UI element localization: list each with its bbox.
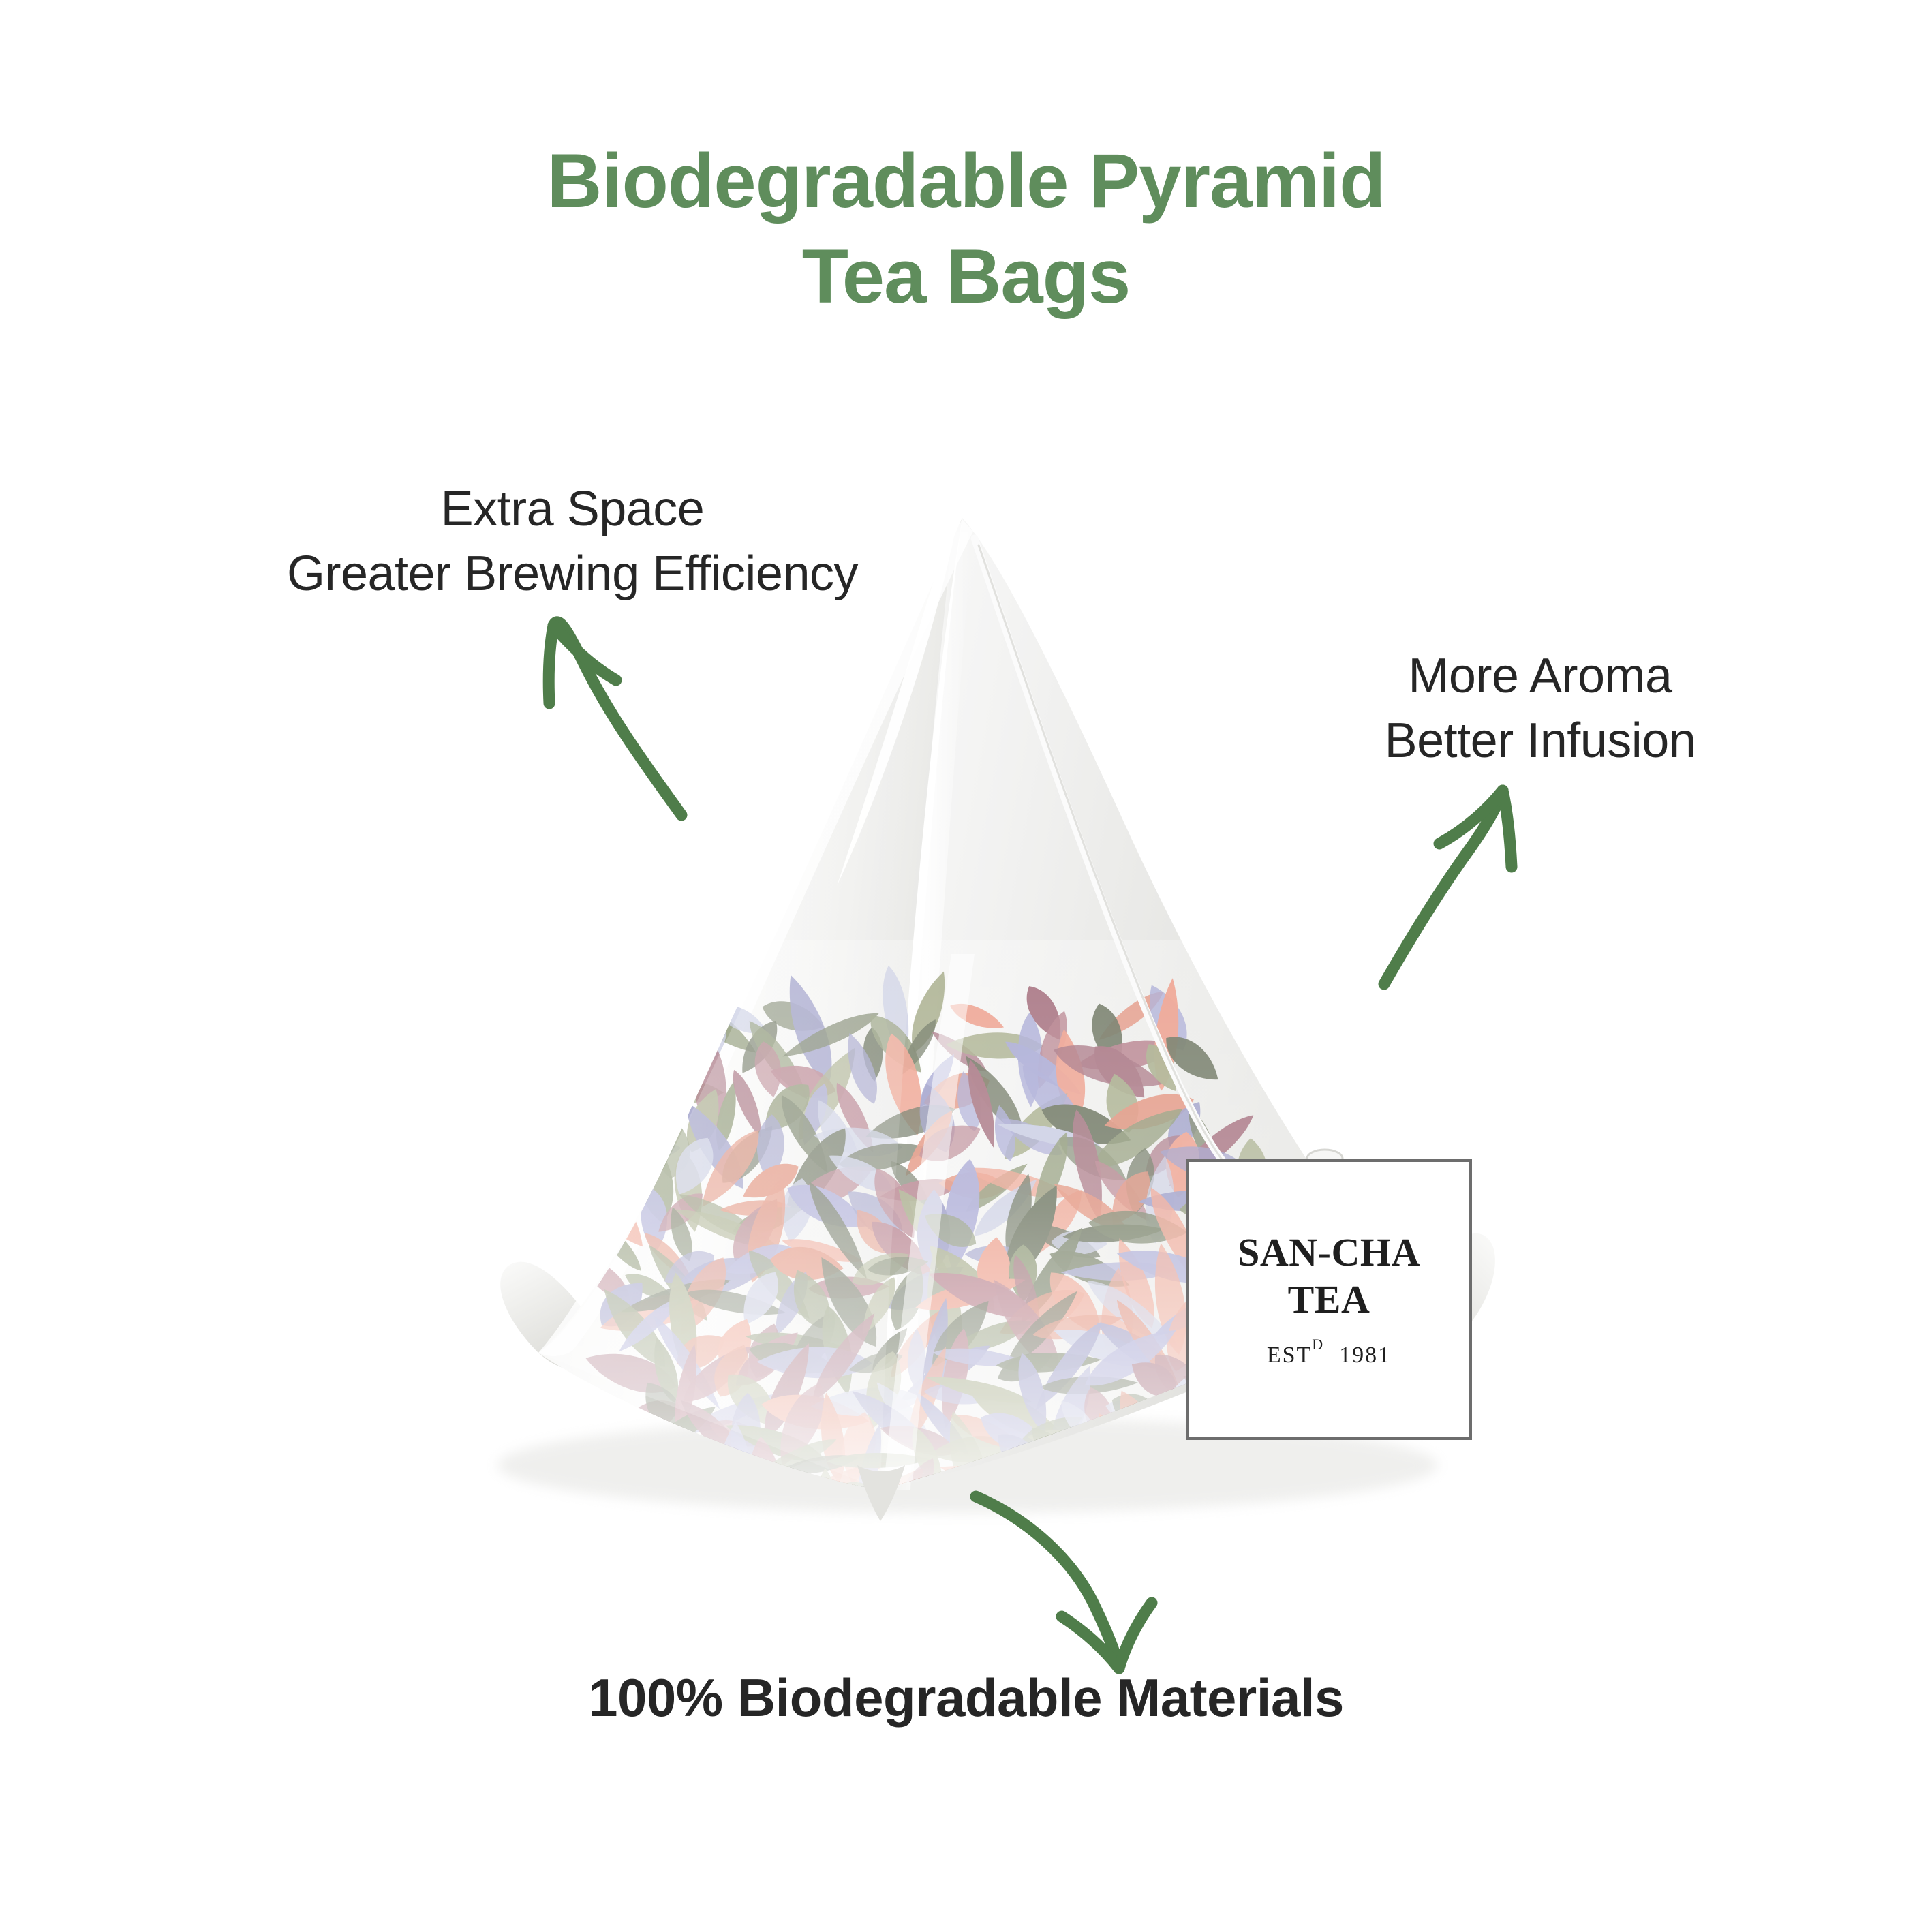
callout-more-aroma-line-1: More Aroma <box>1322 644 1758 709</box>
established-suffix: D <box>1312 1336 1324 1353</box>
callout-more-aroma: More Aroma Better Infusion <box>1322 644 1758 773</box>
established-prefix: EST <box>1267 1343 1312 1368</box>
callout-extra-space-line-1: Extra Space <box>204 477 940 542</box>
brand-name-line-1: SAN-CHA <box>1238 1231 1420 1275</box>
tea-leaf <box>598 1142 626 1210</box>
brand-tag-text: SAN-CHA TEA ESTD1981 <box>1187 1161 1471 1439</box>
established-year: 1981 <box>1339 1343 1391 1368</box>
callout-extra-space: Extra Space Greater Brewing Efficiency <box>204 477 940 607</box>
curved-arrow-down-icon <box>976 1497 1152 1668</box>
curved-arrow-up-left-icon <box>549 622 681 815</box>
callout-extra-space-line-2: Greater Brewing Efficiency <box>204 542 940 607</box>
tea-leaf <box>644 1031 705 1071</box>
callout-biodegradable-line-1: 100% Biodegradable Materials <box>0 1663 1932 1733</box>
callout-biodegradable: 100% Biodegradable Materials <box>0 1663 1932 1733</box>
curved-arrow-up-right-icon <box>1384 791 1512 984</box>
infographic-canvas: Biodegradable Pyramid Tea Bags <box>0 0 1932 1932</box>
brand-name-line-2: TEA <box>1288 1278 1370 1322</box>
established-line: ESTD1981 <box>1267 1343 1391 1368</box>
callout-more-aroma-line-2: Better Infusion <box>1322 709 1758 773</box>
tea-bag-illustration <box>0 0 1932 1932</box>
